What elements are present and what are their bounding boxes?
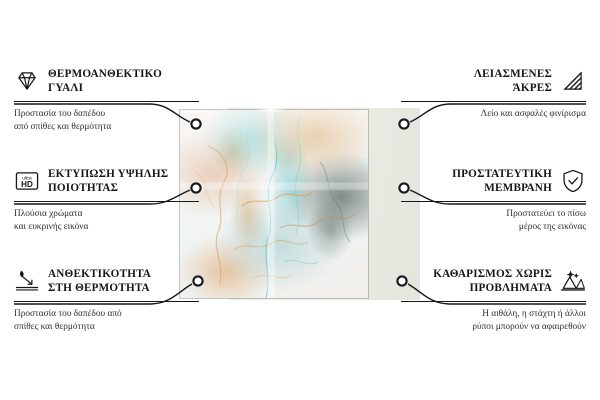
feature-description: Πλούσια χρώματα και ευκρινής εικόνα — [14, 208, 199, 233]
feature-header: ΚΑΘΑΡΙΣΜΟΣ ΧΩΡΙΣ ΠΡΟΒΛΗΜΑΤΑ — [401, 264, 586, 298]
feature-header: ultra HD ΕΚΤΥΠΩΣΗ ΥΨΗΛΗΣ ΠΟΙΟΤΗΤΑΣ — [14, 164, 199, 198]
ultra-hd-icon: ultra HD — [14, 168, 40, 194]
sparkle-wipe-icon — [560, 268, 586, 294]
feature-header: ΑΝΘΕΚΤΙΚΟΤΗΤΑ ΣΤΗ ΘΕΡΜΟΤΗΤΑ — [14, 264, 199, 298]
glass-glare — [254, 105, 288, 114]
hd-label: HD — [21, 180, 33, 189]
feature-description: Προστατεύει το πίσω μέρος της εικόνας — [401, 208, 586, 233]
flame-deflect-icon — [14, 268, 40, 294]
feature-heat-resistant-glass: ΘΕΡΜΟΑΝΘΕΚΤΙΚΟ ΓΥΑΛΙ Προστασία του δαπέδ… — [14, 64, 199, 133]
feature-divider — [14, 301, 199, 302]
feature-header: ΛΕΙΑΣΜΕΝΕΣ ΆΚΡΕΣ — [401, 64, 586, 98]
feature-description: Η αιθάλη, η στάχτη ή άλλοι ρύποι μπορούν… — [401, 308, 586, 333]
feature-description: Προστασία του δαπέδου από σπίθες και θερ… — [14, 308, 199, 333]
feature-description: Προστασία του δαπέδου από σπίθες και θερ… — [14, 108, 199, 133]
polished-edges-icon — [560, 68, 586, 94]
feature-header: ΘΕΡΜΟΑΝΘΕΚΤΙΚΟ ΓΥΑΛΙ — [14, 64, 199, 98]
feature-polished-edges: ΛΕΙΑΣΜΕΝΕΣ ΆΚΡΕΣ Λείο και ασφαλές φινίρι… — [401, 64, 586, 121]
ink-veins — [180, 110, 368, 298]
infographic-root: ΘΕΡΜΟΑΝΘΕΚΤΙΚΟ ΓΥΑΛΙ Προστασία του δαπέδ… — [0, 0, 600, 400]
feature-title: ΕΚΤΥΠΩΣΗ ΥΨΗΛΗΣ ΠΟΙΟΤΗΤΑΣ — [48, 167, 168, 196]
feature-title: ΛΕΙΑΣΜΕΝΕΣ ΆΚΡΕΣ — [474, 67, 552, 96]
feature-divider — [401, 101, 586, 102]
feature-title: ΑΝΘΕΚΤΙΚΟΤΗΤΑ ΣΤΗ ΘΕΡΜΟΤΗΤΑ — [48, 267, 151, 296]
feature-easy-cleaning: ΚΑΘΑΡΙΣΜΟΣ ΧΩΡΙΣ ΠΡΟΒΛΗΜΑΤΑ Η αιθάλη, η … — [401, 264, 586, 333]
feature-title: ΠΡΟΣΤΑΤΕΥΤΙΚΗ ΜΕΜΒΡΑΝΗ — [452, 167, 552, 196]
feature-high-quality-print: ultra HD ΕΚΤΥΠΩΣΗ ΥΨΗΛΗΣ ΠΟΙΟΤΗΤΑΣ Πλούσ… — [14, 164, 199, 233]
feature-divider — [14, 201, 199, 202]
feature-heat-durability: ΑΝΘΕΚΤΙΚΟΤΗΤΑ ΣΤΗ ΘΕΡΜΟΤΗΤΑ Προστασία το… — [14, 264, 199, 333]
feature-description: Λείο και ασφαλές φινίρισμα — [401, 108, 586, 121]
feature-title: ΚΑΘΑΡΙΣΜΟΣ ΧΩΡΙΣ ΠΡΟΒΛΗΜΑΤΑ — [433, 267, 552, 296]
feature-divider — [14, 101, 199, 102]
feature-title: ΘΕΡΜΟΑΝΘΕΚΤΙΚΟ ΓΥΑΛΙ — [48, 67, 162, 96]
feature-protective-membrane: ΠΡΟΣΤΑΤΕΥΤΙΚΗ ΜΕΜΒΡΑΝΗ Προστατεύει το πί… — [401, 164, 586, 233]
diamond-icon — [14, 68, 40, 94]
feature-header: ΠΡΟΣΤΑΤΕΥΤΙΚΗ ΜΕΜΒΡΑΝΗ — [401, 164, 586, 198]
feature-divider — [401, 201, 586, 202]
feature-divider — [401, 301, 586, 302]
glass-panel — [180, 110, 368, 298]
shield-check-icon — [560, 168, 586, 194]
product-image — [180, 108, 420, 300]
